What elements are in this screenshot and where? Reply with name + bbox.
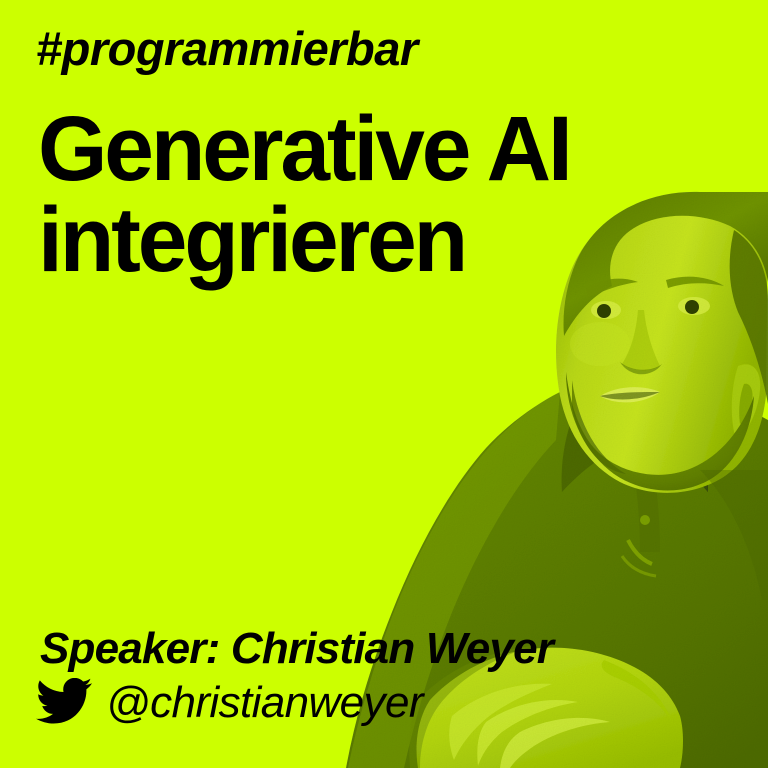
social-handle-row[interactable]: @christianweyer xyxy=(36,678,423,724)
twitter-bird-icon[interactable] xyxy=(36,678,92,724)
speaker-line: Speaker: Christian Weyer xyxy=(40,624,553,675)
speaker-announcement-card: #programmierbar Generative AI integriere… xyxy=(0,0,768,768)
brand-hashtag: #programmierbar xyxy=(36,22,418,76)
page-title: Generative AI integrieren xyxy=(38,104,717,286)
twitter-handle[interactable]: @christianweyer xyxy=(106,680,423,726)
text-layer: #programmierbar Generative AI integriere… xyxy=(0,0,768,768)
